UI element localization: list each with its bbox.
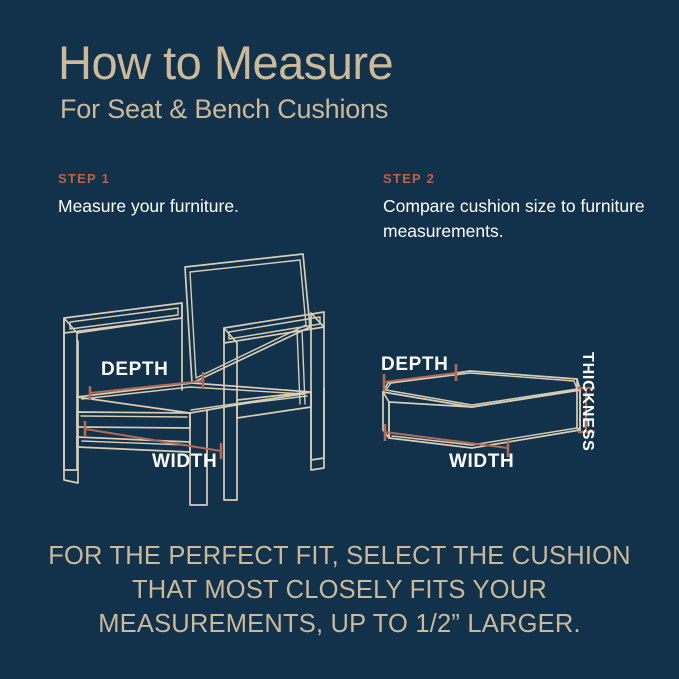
step-2-block: STEP 2 Compare cushion size to furniture…: [383, 172, 653, 244]
step-1-block: STEP 1 Measure your furniture.: [58, 172, 358, 219]
infographic-root: How to Measure For Seat & Bench Cushions…: [0, 0, 679, 679]
cushion-drawing: [383, 364, 595, 457]
cushion-top-face: [383, 371, 580, 407]
chair-left-arm: [64, 303, 182, 470]
footer-callout: FOR THE PERFECT FIT, SELECT THE CUSHION …: [0, 540, 679, 642]
step-2-text: Compare cushion size to furniture measur…: [383, 194, 653, 244]
cushion-width-label: WIDTH: [449, 452, 514, 471]
chair-lower-rail: [77, 437, 190, 452]
cushion-side-faces: [383, 379, 580, 448]
chair-front-rail: [77, 412, 190, 428]
step-1-text: Measure your furniture.: [58, 194, 358, 219]
chair-backrest: [185, 254, 310, 383]
footer-line-1: FOR THE PERFECT FIT, SELECT THE CUSHION: [0, 540, 679, 574]
cushion-depth-label: DEPTH: [381, 355, 448, 374]
page-title: How to Measure: [58, 38, 393, 87]
chair-right-arm: [224, 312, 324, 500]
step-2-kicker: STEP 2: [383, 172, 653, 185]
footer-line-2: THAT MOST CLOSELY FITS YOUR: [0, 574, 679, 608]
footer-line-3: MEASUREMENTS, UP TO 1/2” LARGER.: [0, 608, 679, 642]
step-1-kicker: STEP 1: [58, 172, 358, 185]
chair-width-label: WIDTH: [152, 452, 217, 471]
cushion-thickness-label: THICKNESS: [579, 352, 595, 452]
page-subtitle: For Seat & Bench Cushions: [60, 95, 388, 125]
chair-seat-frame: [77, 383, 311, 413]
chair-depth-label: DEPTH: [101, 360, 168, 379]
